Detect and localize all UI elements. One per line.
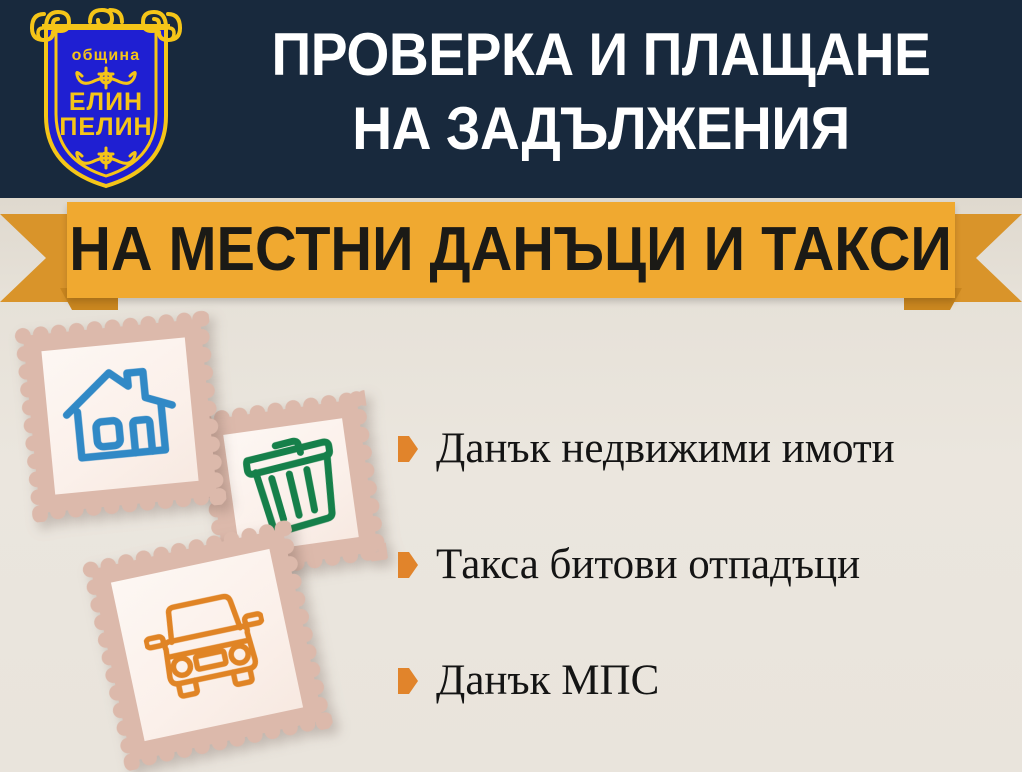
house-icon xyxy=(56,357,184,476)
svg-text:община: община xyxy=(72,47,141,64)
stamp-card-car xyxy=(80,518,334,772)
svg-text:ЕЛИН: ЕЛИН xyxy=(69,88,143,116)
stamp-inner-house xyxy=(41,337,198,494)
list-item[interactable]: Такса битови отпадъци xyxy=(398,540,1008,590)
arrow-bullet-icon xyxy=(398,552,418,578)
list-item-label: Данък недвижими имоти xyxy=(436,424,895,474)
municipality-logo: община ЕЛИН ПЕЛИН xyxy=(24,6,188,192)
tax-type-list: Данък недвижими имоти Такса битови отпад… xyxy=(398,424,1008,772)
list-item-label: Данък МПС xyxy=(436,656,659,706)
arrow-bullet-icon xyxy=(398,668,418,694)
poster-canvas: ПРОВЕРКА И ПЛАЩАНЕ НА ЗАДЪЛЖЕНИЯ община xyxy=(0,0,1022,772)
page-title: ПРОВЕРКА И ПЛАЩАНЕ НА ЗАДЪЛЖЕНИЯ xyxy=(219,18,983,166)
stamp-inner-car xyxy=(111,549,303,741)
car-front-icon xyxy=(137,583,277,706)
stamp-card-house xyxy=(13,309,227,523)
svg-text:ПЕЛИН: ПЕЛИН xyxy=(59,113,152,141)
list-item[interactable]: Данък недвижими имоти xyxy=(398,424,1008,474)
ribbon-banner: НА МЕСТНИ ДАНЪЦИ И ТАКСИ xyxy=(0,196,1022,308)
ribbon-band: НА МЕСТНИ ДАНЪЦИ И ТАКСИ xyxy=(67,202,955,298)
arrow-bullet-icon xyxy=(398,436,418,462)
ribbon-subtitle: НА МЕСТНИ ДАНЪЦИ И ТАКСИ xyxy=(70,218,953,282)
list-item-label: Такса битови отпадъци xyxy=(436,540,860,590)
list-item[interactable]: Данък МПС xyxy=(398,656,1008,706)
